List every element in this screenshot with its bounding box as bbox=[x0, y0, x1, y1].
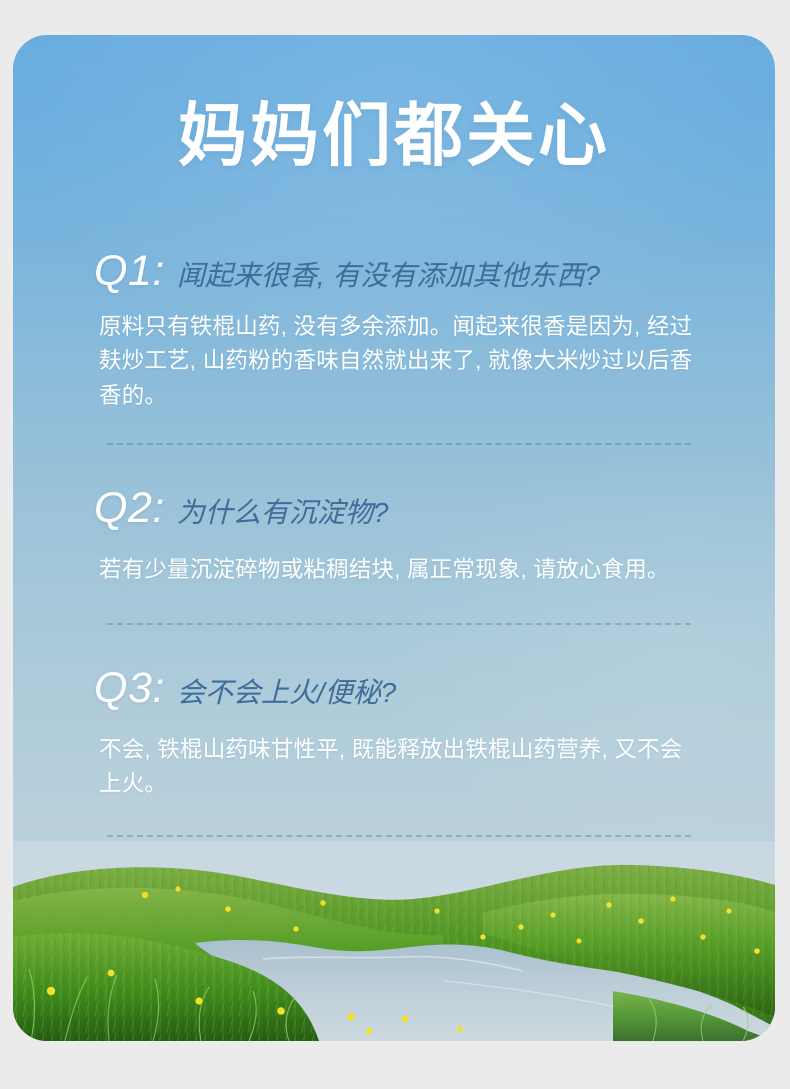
faq-item-q1: Q1: 闻起来很香, 有没有添加其他东西? 原料只有铁棍山药, 没有多余添加。闻… bbox=[13, 249, 775, 445]
question-label-q3: Q3: bbox=[94, 666, 165, 711]
faq-divider-3 bbox=[107, 835, 691, 837]
question-text-q2: 为什么有沉淀物? bbox=[177, 498, 715, 529]
faq-card: 妈妈们都关心 Q1: 闻起来很香, 有没有添加其他东西? 原料只有铁棍山药, 没… bbox=[13, 35, 775, 1041]
grass-landscape-svg bbox=[13, 841, 775, 1041]
faq-item-q3: Q3: 会不会上火/便秘? 不会, 铁棍山药味甘性平, 既能释放出铁棍山药营养,… bbox=[13, 666, 775, 837]
faq-divider-1 bbox=[107, 443, 691, 445]
faq-list: Q1: 闻起来很香, 有没有添加其他东西? 原料只有铁棍山药, 没有多余添加。闻… bbox=[13, 249, 775, 837]
question-text-q3: 会不会上火/便秘? bbox=[177, 678, 715, 709]
answer-text-q3: 不会, 铁棍山药味甘性平, 既能释放出铁棍山药营养, 又不会上火。 bbox=[13, 733, 775, 801]
faq-page: 妈妈们都关心 Q1: 闻起来很香, 有没有添加其他东西? 原料只有铁棍山药, 没… bbox=[0, 0, 790, 1089]
question-text-q1: 闻起来很香, 有没有添加其他东西? bbox=[177, 261, 715, 292]
question-row: Q1: 闻起来很香, 有没有添加其他东西? bbox=[13, 249, 775, 294]
question-label-q1: Q1: bbox=[94, 249, 165, 294]
question-row: Q3: 会不会上火/便秘? bbox=[13, 666, 775, 711]
answer-text-q2: 若有少量沉淀碎物或粘稠结块, 属正常现象, 请放心食用。 bbox=[13, 553, 775, 587]
question-label-q2: Q2: bbox=[94, 486, 165, 531]
faq-divider-2 bbox=[107, 623, 691, 625]
page-title: 妈妈们都关心 bbox=[13, 101, 775, 170]
answer-text-q1: 原料只有铁棍山药, 没有多余添加。闻起来很香是因为, 经过麸炒工艺, 山药粉的香… bbox=[13, 310, 775, 413]
grass-landscape-image bbox=[13, 841, 775, 1041]
faq-item-q2: Q2: 为什么有沉淀物? 若有少量沉淀碎物或粘稠结块, 属正常现象, 请放心食用… bbox=[13, 486, 775, 625]
question-row: Q2: 为什么有沉淀物? bbox=[13, 486, 775, 531]
